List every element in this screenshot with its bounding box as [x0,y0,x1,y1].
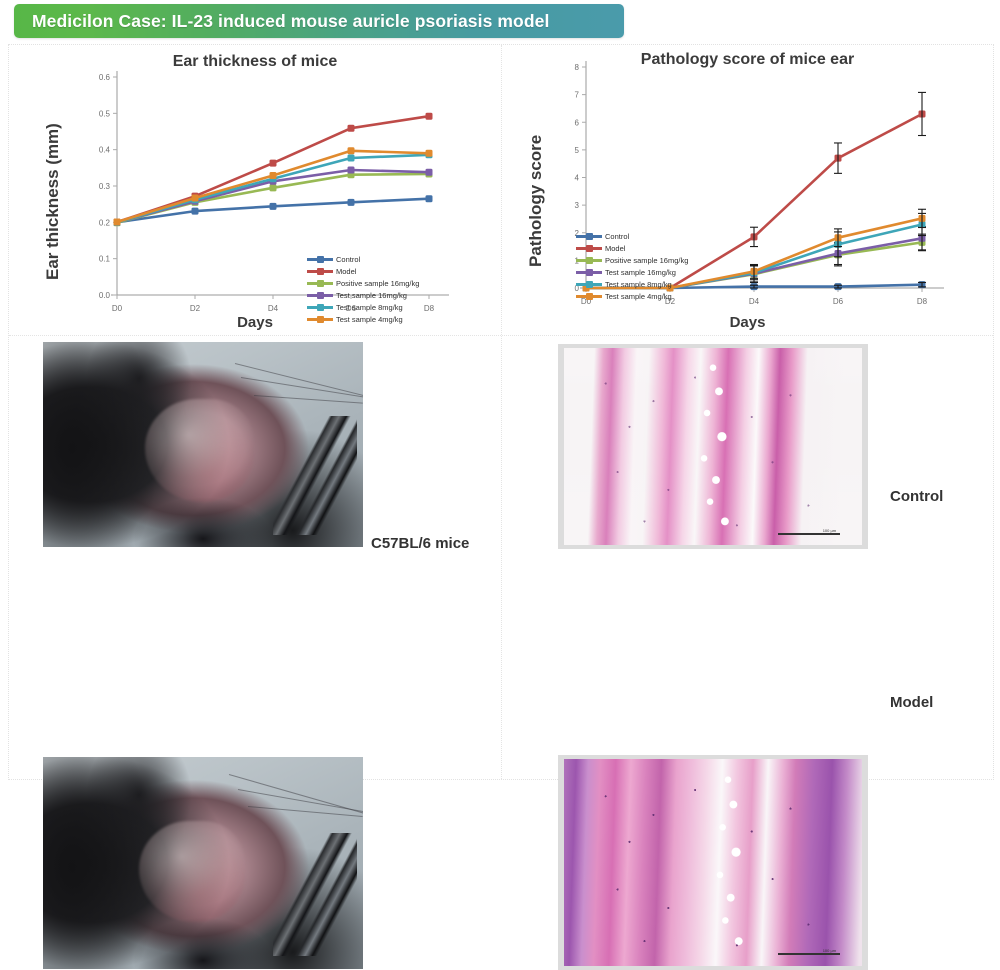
page-title-bar: Medicilon Case: IL-23 induced mouse auri… [14,4,624,38]
scale-bar-control: 100 µm [778,529,840,535]
svg-text:5: 5 [575,146,580,155]
legend-item: Positive sample 16mg/kg [307,278,419,289]
legend-item: Test sample 16mg/kg [307,290,419,301]
legend-item: Control [576,231,688,242]
histology-label-control: Control [890,488,943,505]
caliper-tool [273,833,356,956]
legend-swatch-control [307,258,333,261]
legend-label: Test sample 4mg/kg [336,315,403,324]
panel-histology: 100 µm Control 100 µm Model [502,336,993,779]
panel-mouse-photos: C57BL/6 mice [9,336,501,779]
legend-swatch-model [576,247,602,250]
legend-swatch-control [576,235,602,238]
legend-label: Test sample 8mg/kg [605,280,672,289]
svg-text:D0: D0 [112,304,123,313]
legend-swatch-test-sample-4mg-kg [307,318,333,321]
svg-text:0.2: 0.2 [99,218,111,227]
legend-swatch-model [307,270,333,273]
mouse-ear-lesion [139,821,245,923]
legend-item: Control [307,254,419,265]
svg-text:6: 6 [575,118,580,127]
legend-label: Control [336,255,360,264]
legend-label: Test sample 16mg/kg [605,268,676,277]
svg-text:0.6: 0.6 [99,73,111,82]
svg-text:0.0: 0.0 [99,291,111,300]
chart-legend-pathology: ControlModelPositive sample 16mg/kgTest … [576,231,688,303]
svg-text:D8: D8 [917,297,928,306]
legend-swatch-test-sample-8mg-kg [307,306,333,309]
nuclei-texture [564,348,862,545]
svg-text:3: 3 [575,201,580,210]
svg-text:4: 4 [575,174,580,183]
legend-label: Positive sample 16mg/kg [336,279,419,288]
panel-pathology-score: Pathology score of mice ear Pathology sc… [502,45,993,335]
svg-text:D8: D8 [424,304,435,313]
legend-label: Positive sample 16mg/kg [605,256,688,265]
legend-item: Test sample 16mg/kg [576,267,688,278]
svg-text:0.3: 0.3 [99,182,111,191]
legend-item: Test sample 8mg/kg [307,302,419,313]
svg-text:D4: D4 [268,304,279,313]
svg-text:D2: D2 [190,304,201,313]
figure-grid: Ear thickness of mice Ear thickness (mm)… [8,44,994,780]
svg-text:0.4: 0.4 [99,146,111,155]
histology-tissue-model [564,759,862,966]
legend-item: Positive sample 16mg/kg [576,255,688,266]
mouse-photo-bottom [43,757,363,969]
chart-ear-thickness: Ear thickness of mice Ear thickness (mm)… [9,45,501,335]
legend-label: Model [605,244,625,253]
mouse-photo-caption: C57BL/6 mice [371,535,469,552]
svg-text:0.1: 0.1 [99,255,111,264]
scale-bar-line [778,953,840,955]
legend-swatch-test-sample-4mg-kg [576,295,602,298]
svg-text:7: 7 [575,91,580,100]
legend-label: Test sample 16mg/kg [336,291,407,300]
scale-bar-label: 100 µm [823,948,836,953]
legend-item: Test sample 4mg/kg [576,291,688,302]
svg-text:8: 8 [575,63,580,72]
mouse-photo-top [43,342,363,547]
svg-text:0.5: 0.5 [99,109,111,118]
legend-swatch-test-sample-8mg-kg [576,283,602,286]
scale-bar-line [778,533,840,535]
chart-ear-plot: 0.00.10.20.30.40.50.6D0D2D4D6D8 [9,45,501,335]
caliper-tool [273,416,356,535]
legend-item: Model [307,266,419,277]
histology-tissue-control [564,348,862,545]
legend-item: Test sample 8mg/kg [576,279,688,290]
legend-label: Test sample 8mg/kg [336,303,403,312]
legend-swatch-test-sample-16mg-kg [576,271,602,274]
nuclei-texture [564,759,862,966]
scale-bar-label: 100 µm [823,528,836,533]
legend-item: Model [576,243,688,254]
legend-swatch-positive-sample-16mg-kg [576,259,602,262]
histology-label-model: Model [890,694,933,711]
chart-legend-ear: ControlModelPositive sample 16mg/kgTest … [307,254,419,326]
mouse-ear-lesion [145,399,254,502]
legend-label: Test sample 4mg/kg [605,292,672,301]
svg-text:D4: D4 [749,297,760,306]
histology-image-control: 100 µm [558,344,868,549]
chart-pathology-score: Pathology score of mice ear Pathology sc… [502,45,993,335]
svg-text:D6: D6 [833,297,844,306]
legend-swatch-test-sample-16mg-kg [307,294,333,297]
panel-ear-thickness: Ear thickness of mice Ear thickness (mm)… [9,45,501,335]
legend-label: Model [336,267,356,276]
page-title: Medicilon Case: IL-23 induced mouse auri… [14,11,549,32]
legend-label: Control [605,232,629,241]
legend-item: Test sample 4mg/kg [307,314,419,325]
histology-image-model: 100 µm [558,755,868,970]
scale-bar-model: 100 µm [778,949,840,955]
legend-swatch-positive-sample-16mg-kg [307,282,333,285]
